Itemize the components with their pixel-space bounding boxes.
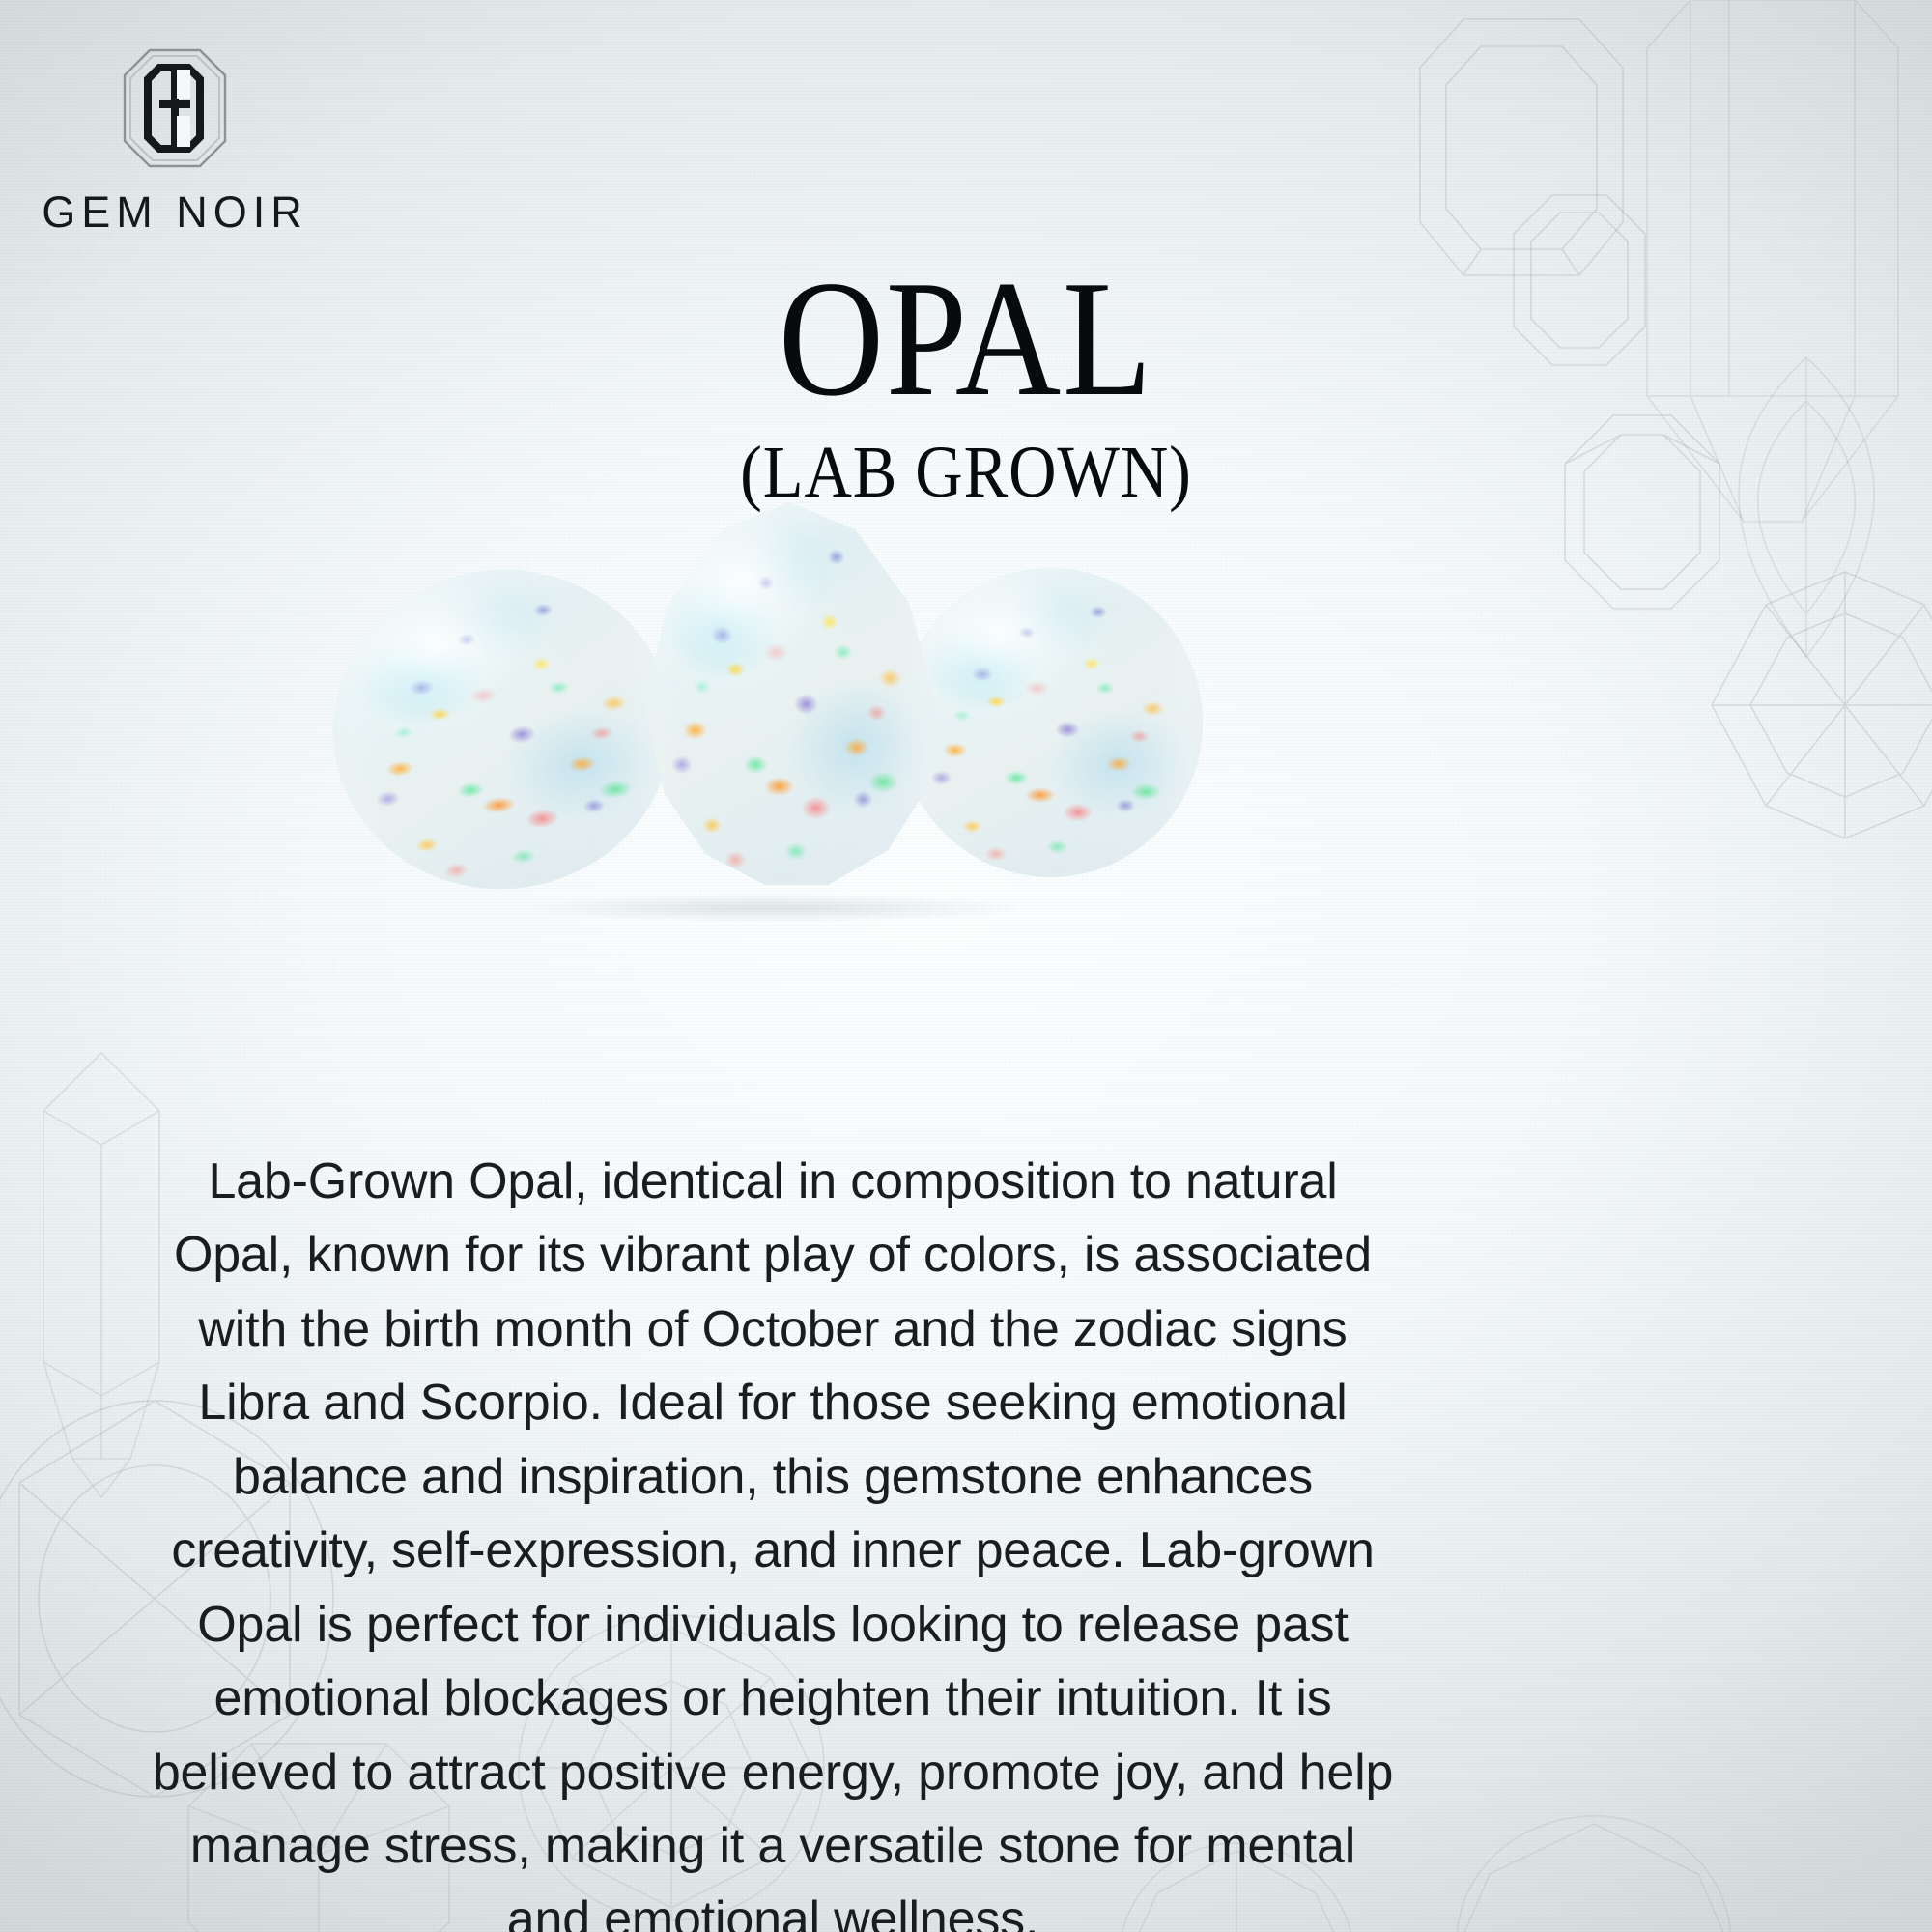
octagon-gem-monogram-icon — [121, 46, 229, 170]
product-description: Lab-Grown Opal, identical in composition… — [145, 1145, 1401, 1932]
poster-canvas: GEM NOIR OPAL (LAB GROWN) — [0, 0, 1932, 1932]
oval-cut-gem-outline-icon — [1449, 1806, 1739, 1932]
page-title: OPAL — [116, 261, 1816, 418]
gemstone-drop-shadow — [415, 889, 1130, 927]
opal-stone-oval — [318, 554, 688, 906]
page-subtitle: (LAB GROWN) — [97, 436, 1835, 509]
opal-stone-round — [898, 568, 1203, 877]
headline-group: OPAL (LAB GROWN) — [0, 261, 1932, 509]
brand-wordmark: GEM NOIR — [42, 187, 308, 238]
opal-stone-pear — [639, 502, 939, 889]
brand-logo[interactable]: GEM NOIR — [35, 46, 315, 238]
gemstone-cluster — [0, 502, 1932, 908]
